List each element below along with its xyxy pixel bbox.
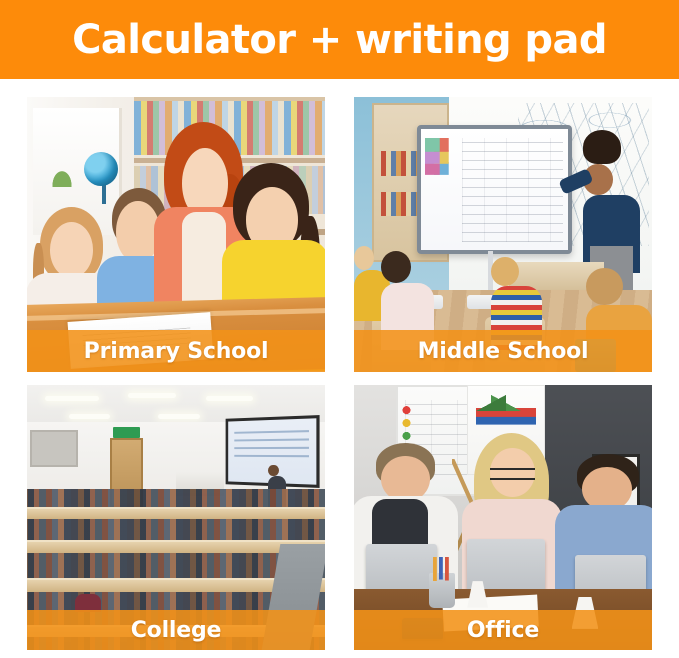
student-row-1 [27,489,325,507]
head [50,222,93,278]
wall-monitor [30,430,78,467]
header-banner: Calculator + writing pad [0,0,679,79]
panel-label-text: Office [467,618,539,643]
head [116,201,159,262]
interactive-display [417,125,572,254]
exit-sign-icon [113,427,140,438]
ceiling-light-5 [158,414,200,419]
ceiling-light-3 [206,396,254,401]
head [586,268,623,305]
head [491,257,519,287]
product-feature-card: Calculator + writing pad [0,0,679,658]
use-case-panel-primary-school[interactable]: Primary School [27,97,325,372]
use-case-panel-middle-school[interactable]: Middle School [354,97,652,372]
plant-icon [51,169,73,187]
panel-label-text: Middle School [418,339,589,364]
panel-label-text: Primary School [84,339,269,364]
ceiling-light-1 [45,396,99,401]
use-case-panel-office[interactable]: Office [354,385,652,650]
ceiling-light-2 [128,393,176,398]
glasses-icon [490,468,535,480]
head [381,251,411,283]
panel-label-text: College [131,618,222,643]
pens-icon [431,557,455,581]
use-case-panel-college[interactable]: College [27,385,325,650]
hair [583,130,620,164]
ceiling-light-4 [69,414,111,419]
panel-label-office: Office [354,610,652,650]
panel-label-middle-school: Middle School [354,330,652,372]
display-app-tiles [425,138,457,184]
student-row-2 [27,519,325,540]
head [268,465,279,477]
display-annotations [462,138,563,242]
desk-row-1 [27,507,325,519]
use-case-grid: Primary School [27,97,652,650]
panel-label-college: College [27,610,325,650]
head [354,246,374,270]
pyramid-chart [476,395,536,432]
magnet-dots-icon [402,406,411,440]
panel-label-primary-school: Primary School [27,330,325,372]
slide-content [234,430,308,463]
page-title: Calculator + writing pad [72,20,607,60]
globe-icon [84,152,118,186]
